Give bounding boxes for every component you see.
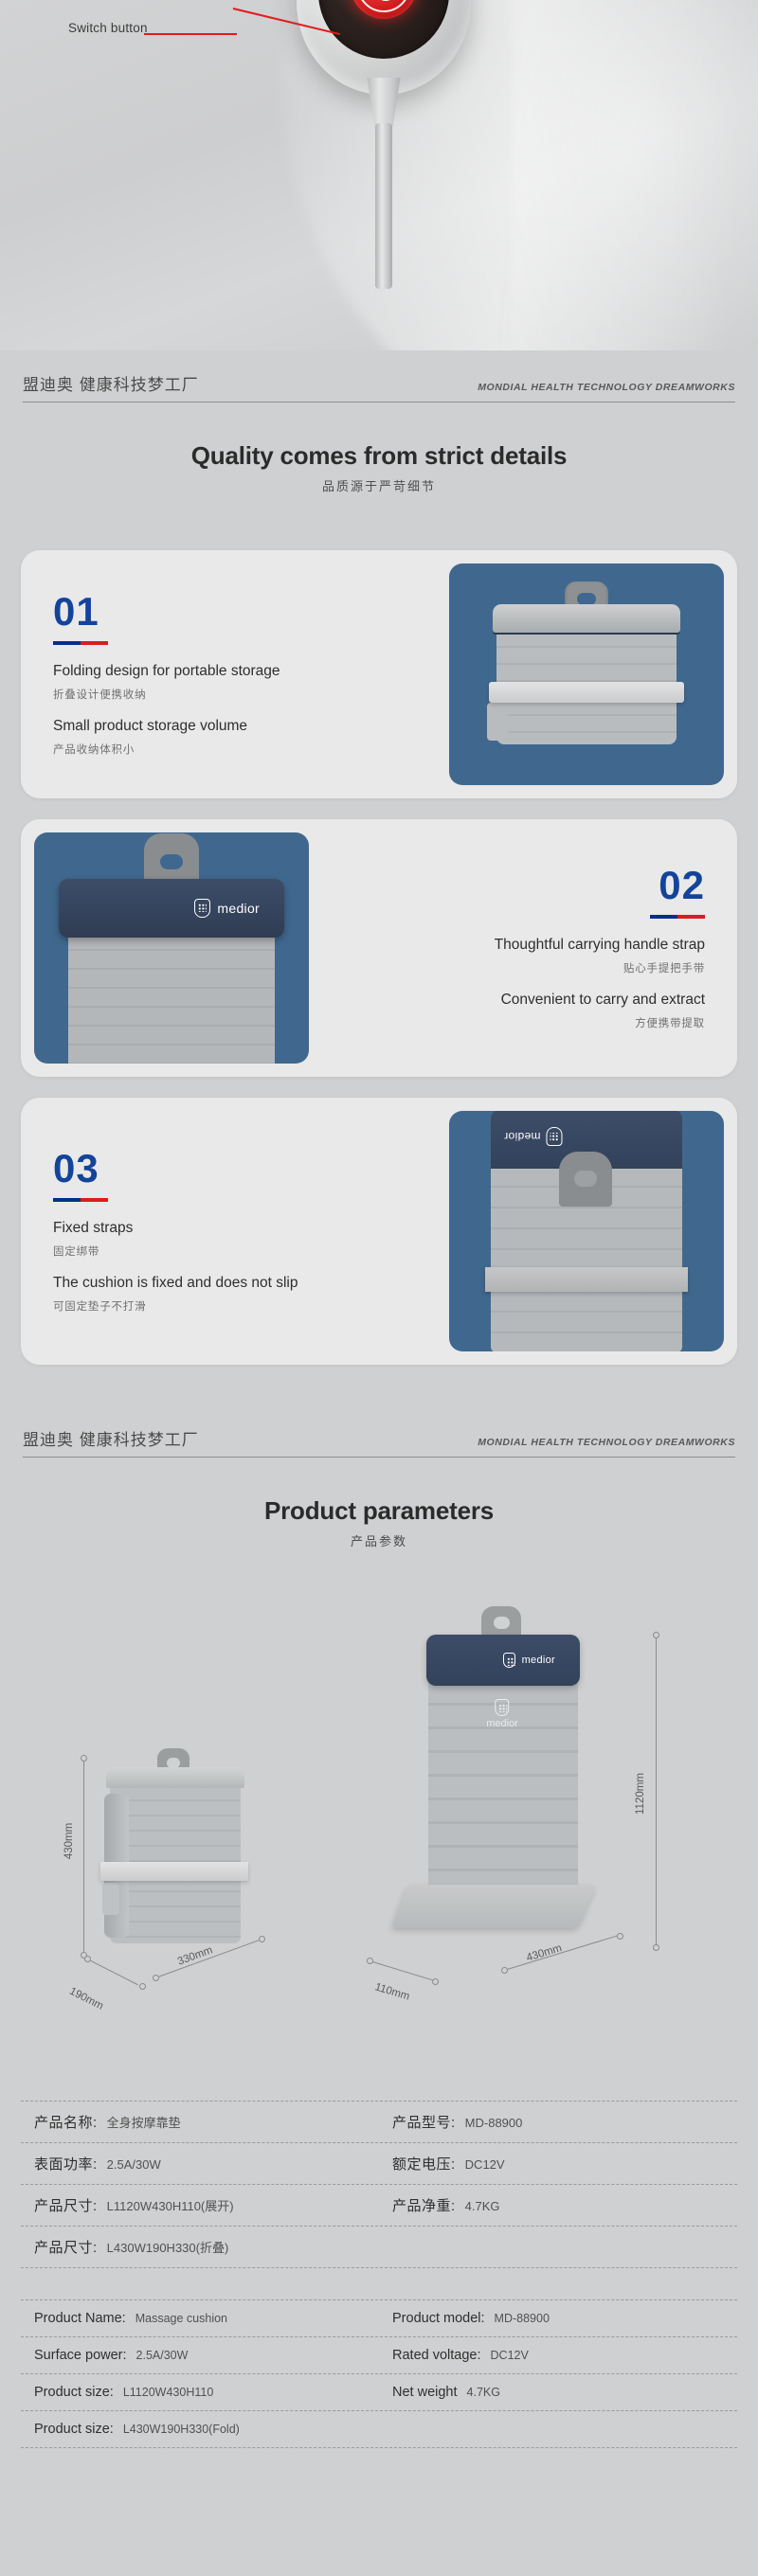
feature-number-02: 02 [659, 866, 705, 905]
feature-card-03-text: 03 Fixed straps 固定绑带 The cushion is fixe… [21, 1098, 436, 1365]
folded-product-illustration [104, 1769, 246, 1949]
cushion-body [68, 932, 275, 1064]
spec-value: 2.5A/30W [136, 2349, 189, 2362]
bag-illustration [493, 604, 680, 744]
spec-cell: Net weight 4.7KG [379, 2374, 737, 2410]
dim-dot [367, 1958, 373, 1964]
spec-table-en: Product Name: Massage cushion Product mo… [21, 2299, 737, 2448]
fixing-band [485, 1267, 688, 1292]
shield-logo-icon [496, 1699, 510, 1716]
dim-dot [501, 1967, 508, 1974]
spec-key: 产品名称: [34, 2112, 98, 2132]
shield-logo-icon [194, 899, 210, 918]
product-handle-icon [481, 1606, 521, 1638]
feature-02-line1-cn: 贴心手提把手带 [623, 960, 705, 975]
folded-bag-photo [449, 563, 724, 785]
folded-strap-band [100, 1862, 248, 1881]
dimension-diagram: 430mm 190mm 330mm medior medior 1120mm 1… [0, 1591, 758, 1998]
spec-cell: 额定电压: DC12V [379, 2143, 737, 2184]
feature-03-line1-en: Fixed straps [53, 1219, 404, 1239]
dim-dot [153, 1975, 159, 1981]
feature-03-line2-en: The cushion is fixed and does not slip [53, 1274, 404, 1294]
spec-table-cn: 产品名称: 全身按摩靠垫 产品型号: MD-88900 表面功率: 2.5A/3… [21, 2101, 737, 2268]
spec-key: Product model: [392, 2311, 485, 2326]
dim-dot [617, 1933, 623, 1940]
brand-logo-word: medior [486, 1718, 518, 1729]
spec-key: Surface power: [34, 2348, 127, 2363]
feature-03-line1-cn: 固定绑带 [53, 1243, 404, 1259]
number-accent-rule [53, 1198, 108, 1201]
feature-02-line2-cn: 方便携带提取 [635, 1015, 705, 1030]
spec-value: MD-88900 [465, 2116, 523, 2130]
feature-card-02-image: medior [21, 819, 322, 1077]
spec-value: 4.7KG [467, 2386, 500, 2399]
folded-side-tab [102, 1883, 119, 1915]
feature-02-line2-en: Convenient to carry and extract [501, 991, 705, 1011]
brand-name-en: MONDIAL HEALTH TECHNOLOGY DREAMWORKS [478, 1437, 735, 1450]
table-row: 产品名称: 全身按摩靠垫 产品型号: MD-88900 [21, 2101, 737, 2143]
brand-bar-top: 盟迪奥 健康科技梦工厂 MONDIAL HEALTH TECHNOLOGY DR… [0, 371, 758, 402]
spec-cell: Product model: MD-88900 [379, 2300, 737, 2336]
hero-banner: Switch button [0, 0, 758, 350]
dim-label-unfolded-depth: 110mm [373, 1981, 410, 2002]
feature-01-line2-cn: 产品收纳体积小 [53, 742, 404, 757]
params-title-en: Product parameters [0, 1496, 758, 1526]
table-row: Product size: L430W190H330(Fold) [21, 2411, 737, 2448]
spec-value: L1120W430H110(展开) [107, 2196, 234, 2214]
dim-line-folded-depth [87, 1959, 138, 1985]
brand-name-cn: 盟迪奥 健康科技梦工厂 [23, 371, 199, 395]
bag-lid [493, 604, 680, 633]
table-row: Surface power: 2.5A/30W Rated voltage: D… [21, 2337, 737, 2374]
spec-value: L430W190H330(Fold) [123, 2423, 240, 2436]
spec-cell: Surface power: 2.5A/30W [21, 2337, 379, 2373]
handle-strap-illustration: medior [63, 832, 280, 1064]
feature-card-03-image: medior [436, 1098, 737, 1365]
quality-section-title: Quality comes from strict details 品质源于严苛… [0, 441, 758, 494]
shield-logo-icon [546, 1127, 562, 1146]
brand-name-en: MONDIAL HEALTH TECHNOLOGY DREAMWORKS [478, 382, 735, 395]
switch-button-callout-label: Switch button [68, 21, 148, 35]
navy-headrest: medior [426, 1635, 580, 1686]
spec-cell: Rated voltage: DC12V [379, 2337, 737, 2373]
spec-cell: 产品型号: MD-88900 [379, 2102, 737, 2142]
spec-cell: 产品尺寸: L430W190H330(折叠) [21, 2227, 379, 2267]
remote-cord [375, 123, 392, 289]
fixed-strap-photo: medior [449, 1111, 724, 1351]
backrest-brand-print: medior [486, 1699, 518, 1729]
feature-01-line2-en: Small product storage volume [53, 717, 404, 737]
spec-key: 产品尺寸: [34, 2195, 98, 2215]
spec-key: Rated voltage: [392, 2348, 481, 2363]
handle-strap-photo: medior [34, 832, 309, 1064]
spec-key: 额定电压: [392, 2154, 456, 2173]
dim-dot [81, 1755, 87, 1762]
fixed-strap-illustration: medior [485, 1111, 688, 1351]
params-title-cn: 产品参数 [0, 1531, 758, 1549]
spec-cell-empty [379, 2419, 737, 2440]
medior-logo: medior [194, 899, 260, 918]
bag-side-tab [487, 703, 508, 741]
dim-dot [653, 1632, 659, 1638]
params-section-title: Product parameters 产品参数 [0, 1496, 758, 1549]
feature-number-01: 01 [53, 592, 404, 632]
dim-line-folded-height [83, 1758, 84, 1955]
spec-key: 表面功率: [34, 2154, 98, 2173]
number-accent-rule [53, 641, 108, 644]
unfolded-product-illustration: medior medior [407, 1631, 597, 1991]
spec-key: Product Name: [34, 2311, 126, 2326]
table-row: 产品尺寸: L430W190H330(折叠) [21, 2227, 737, 2268]
spec-value: 全身按摩靠垫 [107, 2113, 181, 2131]
spec-cell: Product size: L430W190H330(Fold) [21, 2411, 379, 2447]
spec-key: 产品尺寸: [34, 2237, 98, 2257]
navy-strap: medior [59, 879, 284, 938]
feature-card-02-text: 02 Thoughtful carrying handle strap 贴心手提… [322, 819, 737, 1077]
feature-card-02[interactable]: 02 Thoughtful carrying handle strap 贴心手提… [21, 819, 737, 1077]
feature-02-line1-en: Thoughtful carrying handle strap [495, 936, 705, 956]
dim-label-folded-depth: 190mm [67, 1986, 105, 2012]
brand-logo-word: medior [522, 1655, 555, 1666]
spec-key: 产品型号: [392, 2112, 456, 2132]
number-accent-rule [650, 915, 705, 918]
shield-logo-icon [503, 1653, 515, 1668]
brand-logo-word: medior [504, 1130, 540, 1143]
remote-control-device [297, 0, 471, 95]
brand-name-cn: 盟迪奥 健康科技梦工厂 [23, 1426, 199, 1450]
spec-cell: 产品名称: 全身按摩靠垫 [21, 2102, 379, 2142]
carry-handle-icon [559, 1152, 612, 1207]
spec-cell: 产品净重: 4.7KG [379, 2185, 737, 2226]
spec-key: 产品净重: [392, 2195, 456, 2215]
spec-value: Massage cushion [135, 2312, 227, 2325]
spec-cell: 产品尺寸: L1120W430H110(展开) [21, 2185, 379, 2226]
dim-label-folded-height: 430mm [63, 1823, 75, 1859]
spec-value: MD-88900 [495, 2312, 550, 2325]
spec-value: 4.7KG [465, 2199, 500, 2213]
spec-value: L1120W430H110 [123, 2386, 213, 2399]
feature-01-line1-cn: 折叠设计便携收纳 [53, 687, 404, 702]
brand-row: 盟迪奥 健康科技梦工厂 MONDIAL HEALTH TECHNOLOGY DR… [23, 1426, 735, 1458]
feature-card-01-text: 01 Folding design for portable storage 折… [21, 550, 436, 798]
dim-label-unfolded-height: 1120mm [635, 1773, 646, 1815]
spec-value: 2.5A/30W [107, 2157, 161, 2172]
quality-title-cn: 品质源于严苛细节 [0, 476, 758, 494]
spec-key: Product size: [34, 2422, 114, 2437]
feature-card-01[interactable]: 01 Folding design for portable storage 折… [21, 550, 737, 798]
dim-dot [432, 1978, 439, 1985]
spec-cell: Product size: L1120W430H110 [21, 2374, 379, 2410]
table-row: Product size: L1120W430H110 Net weight 4… [21, 2374, 737, 2411]
spec-value: L430W190H330(折叠) [107, 2238, 229, 2256]
unfolded-seat [391, 1885, 597, 1928]
medior-logo-inverted: medior [504, 1127, 562, 1146]
dim-dot [259, 1936, 265, 1942]
brand-logo-word: medior [217, 901, 260, 916]
hero-sheen-right [512, 0, 758, 350]
callout-leader-line [144, 33, 237, 35]
feature-card-03[interactable]: 03 Fixed straps 固定绑带 The cushion is fixe… [21, 1098, 737, 1365]
feature-01-line1-en: Folding design for portable storage [53, 662, 404, 682]
spec-value: DC12V [465, 2157, 505, 2172]
bag-strap [489, 682, 684, 703]
table-row: 表面功率: 2.5A/30W 额定电压: DC12V [21, 2143, 737, 2185]
table-row: Product Name: Massage cushion Product mo… [21, 2299, 737, 2337]
folded-lid [106, 1767, 244, 1788]
brand-row: 盟迪奥 健康科技梦工厂 MONDIAL HEALTH TECHNOLOGY DR… [23, 371, 735, 402]
quality-title-en: Quality comes from strict details [0, 441, 758, 471]
medior-logo: medior [503, 1653, 555, 1668]
spec-cell: Product Name: Massage cushion [21, 2300, 379, 2336]
dim-line-unfolded-height [656, 1635, 657, 1947]
spec-key: Product size: [34, 2385, 114, 2400]
spec-value: DC12V [491, 2349, 529, 2362]
feature-number-03: 03 [53, 1149, 404, 1189]
brand-bar-params: 盟迪奥 健康科技梦工厂 MONDIAL HEALTH TECHNOLOGY DR… [0, 1426, 758, 1458]
feature-03-line2-cn: 可固定垫子不打滑 [53, 1298, 404, 1314]
dim-dot [653, 1944, 659, 1951]
dim-dot [139, 1983, 146, 1990]
spec-key: Net weight [392, 2385, 458, 2400]
spec-cell: 表面功率: 2.5A/30W [21, 2143, 379, 2184]
spec-cell-empty [379, 2237, 737, 2258]
feature-card-01-image [436, 550, 737, 798]
table-row: 产品尺寸: L1120W430H110(展开) 产品净重: 4.7KG [21, 2185, 737, 2227]
dim-dot [84, 1956, 91, 1962]
